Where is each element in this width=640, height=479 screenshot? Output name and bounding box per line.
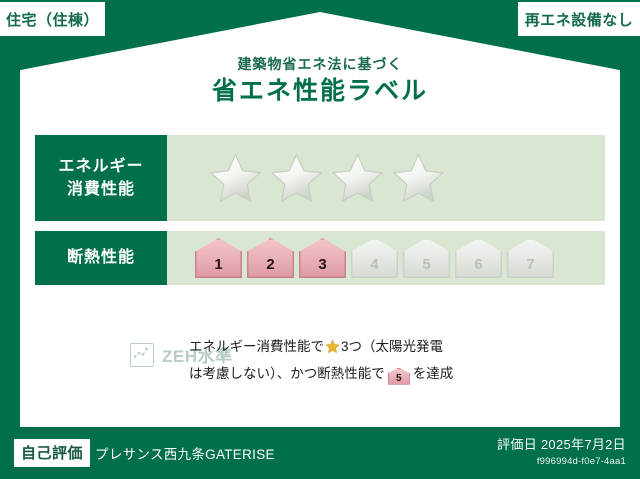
star-empty-icon xyxy=(390,151,447,206)
star-empty-icon xyxy=(329,151,386,206)
row-energy-label-line2: 消費性能 xyxy=(67,178,135,201)
insulation-grade-4: 4 xyxy=(351,238,398,278)
row-insulation-label: 断熱性能 xyxy=(35,231,167,285)
insulation-grade-3: 3 xyxy=(299,238,346,278)
insulation-grade-scale: 1234567 xyxy=(195,238,554,278)
row-energy-label: エネルギー 消費性能 xyxy=(35,135,167,221)
renewable-energy-chip: 再エネ設備なし xyxy=(518,2,640,36)
insulation-grade-7: 7 xyxy=(507,238,554,278)
row-energy-label-line1: エネルギー xyxy=(58,155,143,178)
performance-rows: エネルギー 消費性能 断熱性能 1234567 xyxy=(35,135,605,295)
zeh-description: エネルギー消費性能で3つ（太陽光発電は考慮しない）、かつ断熱性能で5を達成 xyxy=(185,330,605,385)
zeh-desc-part3: は考慮しない）、かつ断熱性能で xyxy=(189,366,385,381)
zeh-desc-part4: を達成 xyxy=(413,366,454,381)
star-empty-icon xyxy=(207,151,264,206)
row-energy-value xyxy=(167,135,605,221)
title-subtitle: 建築物省エネ法に基づく xyxy=(0,56,640,73)
insulation-grade-1: 1 xyxy=(195,238,242,278)
insulation-grade-6: 6 xyxy=(455,238,502,278)
evaluation-id: f996994d-f0e7-4aa1 xyxy=(497,456,626,468)
evaluation-date: 評価日 2025年7月2日 xyxy=(497,437,626,454)
self-evaluation-chip: 自己評価 xyxy=(14,439,90,467)
inline-grade-badge: 5 xyxy=(388,368,410,385)
zeh-chart-icon xyxy=(130,343,154,367)
footer-right-group: 評価日 2025年7月2日 f996994d-f0e7-4aa1 xyxy=(497,437,626,468)
zeh-standard-block: ZEH水準 エネルギー消費性能で3つ（太陽光発電は考慮しない）、かつ断熱性能で5… xyxy=(35,330,605,385)
star-empty-icon xyxy=(268,151,325,206)
zeh-desc-part1: エネルギー消費性能で xyxy=(189,339,324,354)
zeh-desc-part2: 3つ（太陽光発電 xyxy=(341,339,443,354)
footer-left-group: 自己評価 プレサンス西九条GATERISE xyxy=(14,439,275,467)
building-name: プレサンス西九条GATERISE xyxy=(95,443,275,463)
label-footer: 自己評価 プレサンス西九条GATERISE 評価日 2025年7月2日 f996… xyxy=(0,427,640,479)
energy-performance-label: 住宅（住棟） 再エネ設備なし 建築物省エネ法に基づく 省エネ性能ラベル エネルギ… xyxy=(0,0,640,479)
star-rating xyxy=(207,151,447,206)
label-title-block: 建築物省エネ法に基づく 省エネ性能ラベル xyxy=(0,56,640,107)
insulation-grade-2: 2 xyxy=(247,238,294,278)
inline-gold-star-icon xyxy=(325,338,340,362)
building-type-chip: 住宅（住棟） xyxy=(0,2,105,36)
row-energy-performance: エネルギー 消費性能 xyxy=(35,135,605,221)
row-insulation-label-line1: 断熱性能 xyxy=(67,246,135,269)
row-insulation-value: 1234567 xyxy=(167,231,605,285)
row-insulation-performance: 断熱性能 1234567 xyxy=(35,231,605,285)
insulation-grade-5: 5 xyxy=(403,238,450,278)
zeh-badge: ZEH水準 xyxy=(35,330,185,367)
page-title: 省エネ性能ラベル xyxy=(0,76,640,107)
